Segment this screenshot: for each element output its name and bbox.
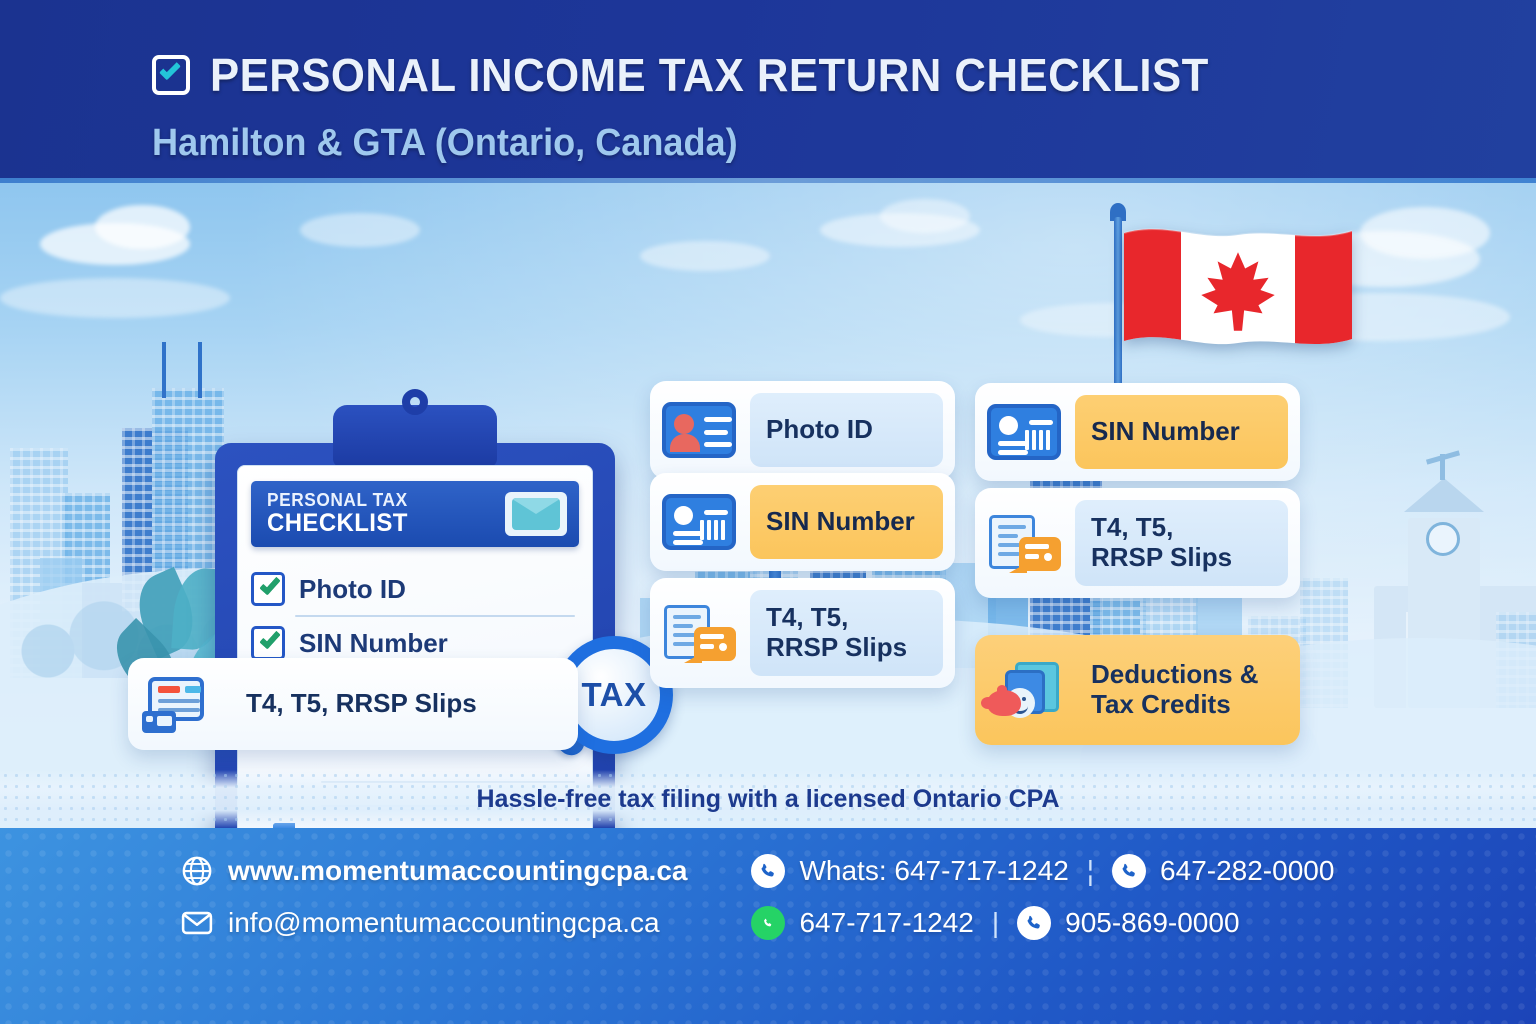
checklist-item-label: SIN Number bbox=[299, 628, 448, 659]
checklist-item[interactable]: Photo ID bbox=[251, 563, 579, 615]
header-title-row: PERSONAL INCOME TAX RETURN CHECKLIST bbox=[150, 48, 1261, 102]
card-label: SIN Number bbox=[1075, 395, 1288, 469]
card-label-line2: Tax Credits bbox=[1091, 690, 1231, 720]
footer-phone-text-1: 647-282-0000 bbox=[1160, 855, 1334, 887]
flag-pole bbox=[1114, 217, 1122, 403]
phone-icon[interactable] bbox=[1112, 854, 1146, 888]
infographic-root: PERSONAL INCOME TAX RETURN CHECKLIST Ham… bbox=[0, 0, 1536, 1024]
card-sin-number-middle[interactable]: SIN Number bbox=[650, 473, 955, 571]
card-label-line2: RRSP Slips bbox=[1091, 543, 1232, 573]
sin-card-icon bbox=[987, 404, 1061, 460]
clipboard-clip-hole bbox=[402, 389, 428, 415]
magnifier-label: TAX bbox=[581, 676, 646, 714]
canada-flag-cloth bbox=[1124, 227, 1352, 357]
footer-phone-column: Whats: 647-717-1242 ¦ 647-282-0000 647-7… bbox=[727, 854, 1334, 940]
footer-separator-1: ¦ bbox=[1087, 855, 1094, 887]
card-label-line1: T4, T5, bbox=[1091, 513, 1173, 543]
tagline-band: Hassle-free tax filing with a licensed O… bbox=[0, 770, 1536, 828]
footer-phones-row-1: Whats: 647-717-1242 ¦ 647-282-0000 bbox=[751, 854, 1334, 888]
clipboard-header-bar: PERSONAL TAX CHECKLIST bbox=[251, 481, 579, 547]
card-label-line2: RRSP Slips bbox=[766, 633, 907, 663]
footer-email-text: info@momentumaccountingcpa.ca bbox=[228, 907, 660, 939]
card-label: Photo ID bbox=[750, 393, 943, 467]
card-photo-id[interactable]: Photo ID bbox=[650, 381, 955, 479]
checkbox-checked-icon[interactable] bbox=[251, 572, 285, 606]
whatsapp-icon[interactable] bbox=[751, 906, 785, 940]
envelope-icon bbox=[180, 906, 214, 940]
footer-phone-text-2: 905-869-0000 bbox=[1065, 907, 1239, 939]
tax-slip-icon bbox=[662, 605, 736, 661]
sin-card-icon bbox=[662, 494, 736, 550]
footer-contact-bar: www.momentumaccountingcpa.ca info@moment… bbox=[0, 828, 1536, 1024]
checkbox-checked-icon[interactable] bbox=[251, 626, 285, 660]
card-label: T4, T5, RRSP Slips bbox=[230, 672, 564, 736]
footer-website[interactable]: www.momentumaccountingcpa.ca bbox=[180, 854, 687, 888]
footer-email[interactable]: info@momentumaccountingcpa.ca bbox=[180, 906, 687, 940]
footer-website-text: www.momentumaccountingcpa.ca bbox=[228, 855, 687, 887]
scene-background: PERSONAL TAX CHECKLIST Photo ID SIN Numb… bbox=[0, 183, 1536, 828]
footer-separator-2: | bbox=[992, 907, 999, 939]
photo-id-card-icon bbox=[662, 402, 736, 458]
checkbox-checked-icon bbox=[150, 52, 192, 98]
globe-icon bbox=[180, 854, 214, 888]
phone-icon[interactable] bbox=[751, 854, 785, 888]
footer-phones-row-2: 647-717-1242 | 905-869-0000 bbox=[751, 906, 1334, 940]
footer-whatsapp-text-2: 647-717-1242 bbox=[799, 907, 973, 939]
card-t4-t5-rrsp-middle[interactable]: T4, T5, RRSP Slips bbox=[650, 578, 955, 688]
piggy-bank-documents-icon bbox=[987, 662, 1061, 718]
checklist-item-label: Photo ID bbox=[299, 574, 406, 605]
envelope-icon bbox=[505, 492, 567, 536]
clipboard-title-line1: PERSONAL TAX bbox=[267, 491, 408, 510]
card-label: SIN Number bbox=[750, 485, 943, 559]
page-subtitle: Hamilton & GTA (Ontario, Canada) bbox=[152, 122, 738, 165]
card-label-line1: Deductions & bbox=[1091, 660, 1259, 690]
slip-document-icon bbox=[142, 675, 216, 733]
phone-icon[interactable] bbox=[1017, 906, 1051, 940]
tax-slip-icon bbox=[987, 515, 1061, 571]
tagline-text: Hassle-free tax filing with a licensed O… bbox=[476, 785, 1059, 814]
clipboard-title-line2: CHECKLIST bbox=[267, 510, 408, 536]
page-title: PERSONAL INCOME TAX RETURN CHECKLIST bbox=[210, 48, 1209, 102]
card-label-line1: T4, T5, bbox=[766, 603, 848, 633]
card-sin-number-right[interactable]: SIN Number bbox=[975, 383, 1300, 481]
footer-whatsapp-text-1: Whats: 647-717-1242 bbox=[799, 855, 1068, 887]
footer-web-column: www.momentumaccountingcpa.ca info@moment… bbox=[180, 854, 687, 940]
card-t4-t5-rrsp-right[interactable]: T4, T5, RRSP Slips bbox=[975, 488, 1300, 598]
header-banner: PERSONAL INCOME TAX RETURN CHECKLIST Ham… bbox=[0, 0, 1536, 183]
card-deductions-tax-credits[interactable]: Deductions & Tax Credits bbox=[975, 635, 1300, 745]
canada-flag bbox=[1110, 203, 1370, 403]
card-t4-t5-rrsp-left[interactable]: T4, T5, RRSP Slips bbox=[128, 658, 578, 750]
